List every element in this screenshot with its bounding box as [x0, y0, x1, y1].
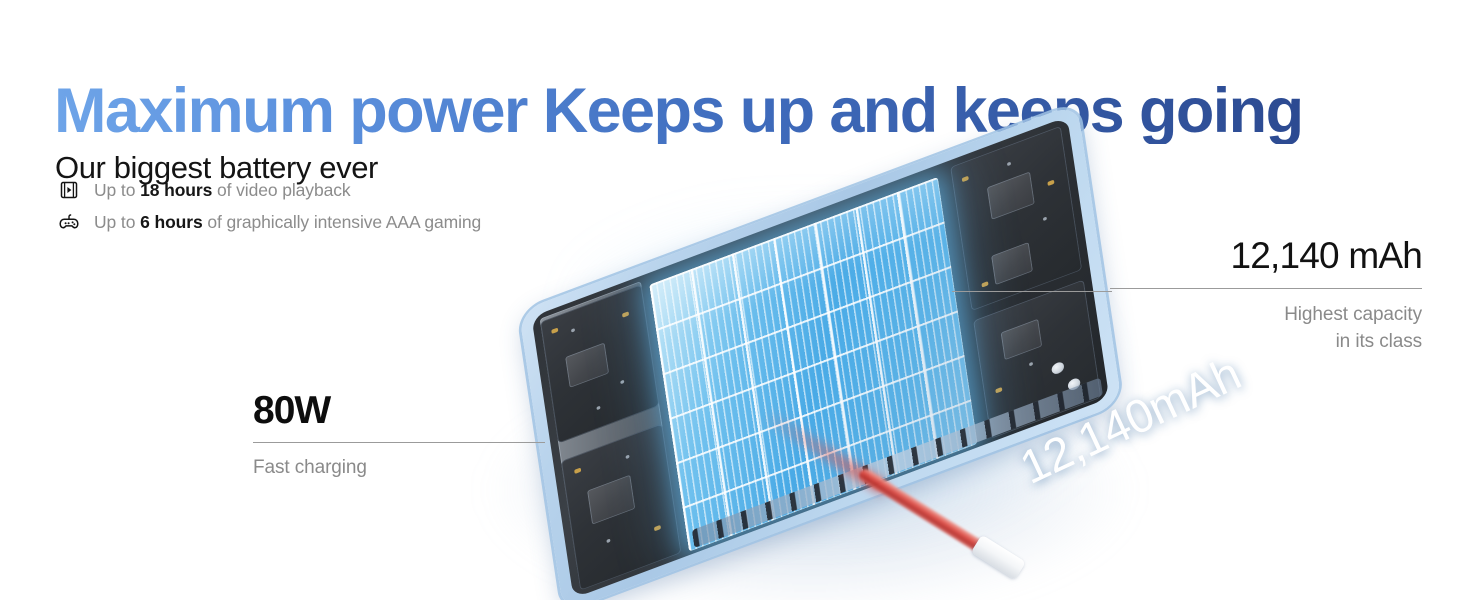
contact-pad — [1047, 180, 1054, 186]
capacity-rule — [1110, 288, 1422, 289]
chip — [987, 171, 1035, 219]
charging-description: Fast charging — [253, 457, 545, 479]
capacity-description-line1: Highest capacity — [1284, 304, 1422, 325]
capacity-leader-line — [952, 291, 1112, 292]
contact-pad — [981, 281, 988, 287]
contact-pad — [995, 387, 1002, 393]
contact-pad — [962, 176, 969, 182]
contact-pad — [622, 311, 629, 317]
capacity-callout: 12,140 mAh Highest capacity in its class — [1110, 236, 1422, 356]
gamepad-icon — [57, 211, 81, 233]
chip — [1001, 319, 1043, 361]
solder-dot — [625, 455, 629, 460]
product-image: 12,140mAh — [430, 120, 1210, 590]
pcb-board — [950, 126, 1082, 311]
list-item-label: Up to 18 hours of video playback — [94, 180, 351, 201]
charging-value: 80W — [253, 390, 545, 432]
contact-pad — [654, 525, 661, 531]
charging-rule — [253, 442, 545, 443]
list-item-label: Up to 6 hours of graphically intensive A… — [94, 212, 481, 233]
capacity-description-line2: in its class — [1336, 331, 1422, 352]
solder-dot — [1043, 216, 1047, 221]
list-item: Up to 6 hours of graphically intensive A… — [57, 210, 481, 234]
charging-callout: 80W Fast charging — [253, 390, 545, 479]
chip — [587, 475, 635, 525]
battery-feature-banner: Maximum power Keeps up and keeps going O… — [0, 0, 1464, 600]
contact-pad — [574, 468, 581, 474]
capacity-value: 12,140 mAh — [1110, 236, 1422, 277]
chip — [991, 242, 1033, 285]
video-playback-icon — [57, 179, 81, 201]
solder-dot — [1029, 362, 1033, 367]
screw — [1051, 361, 1065, 376]
feature-list: Up to 18 hours of video playback Up to 6… — [57, 178, 481, 234]
contact-pad — [551, 327, 558, 333]
solder-dot — [596, 406, 600, 411]
solder-dot — [1007, 162, 1011, 167]
solder-dot — [620, 380, 624, 385]
capacity-description: Highest capacity in its class — [1110, 302, 1422, 356]
solder-dot — [571, 328, 575, 333]
chip — [565, 342, 609, 387]
solder-dot — [606, 539, 610, 544]
list-item: Up to 18 hours of video playback — [57, 178, 481, 202]
